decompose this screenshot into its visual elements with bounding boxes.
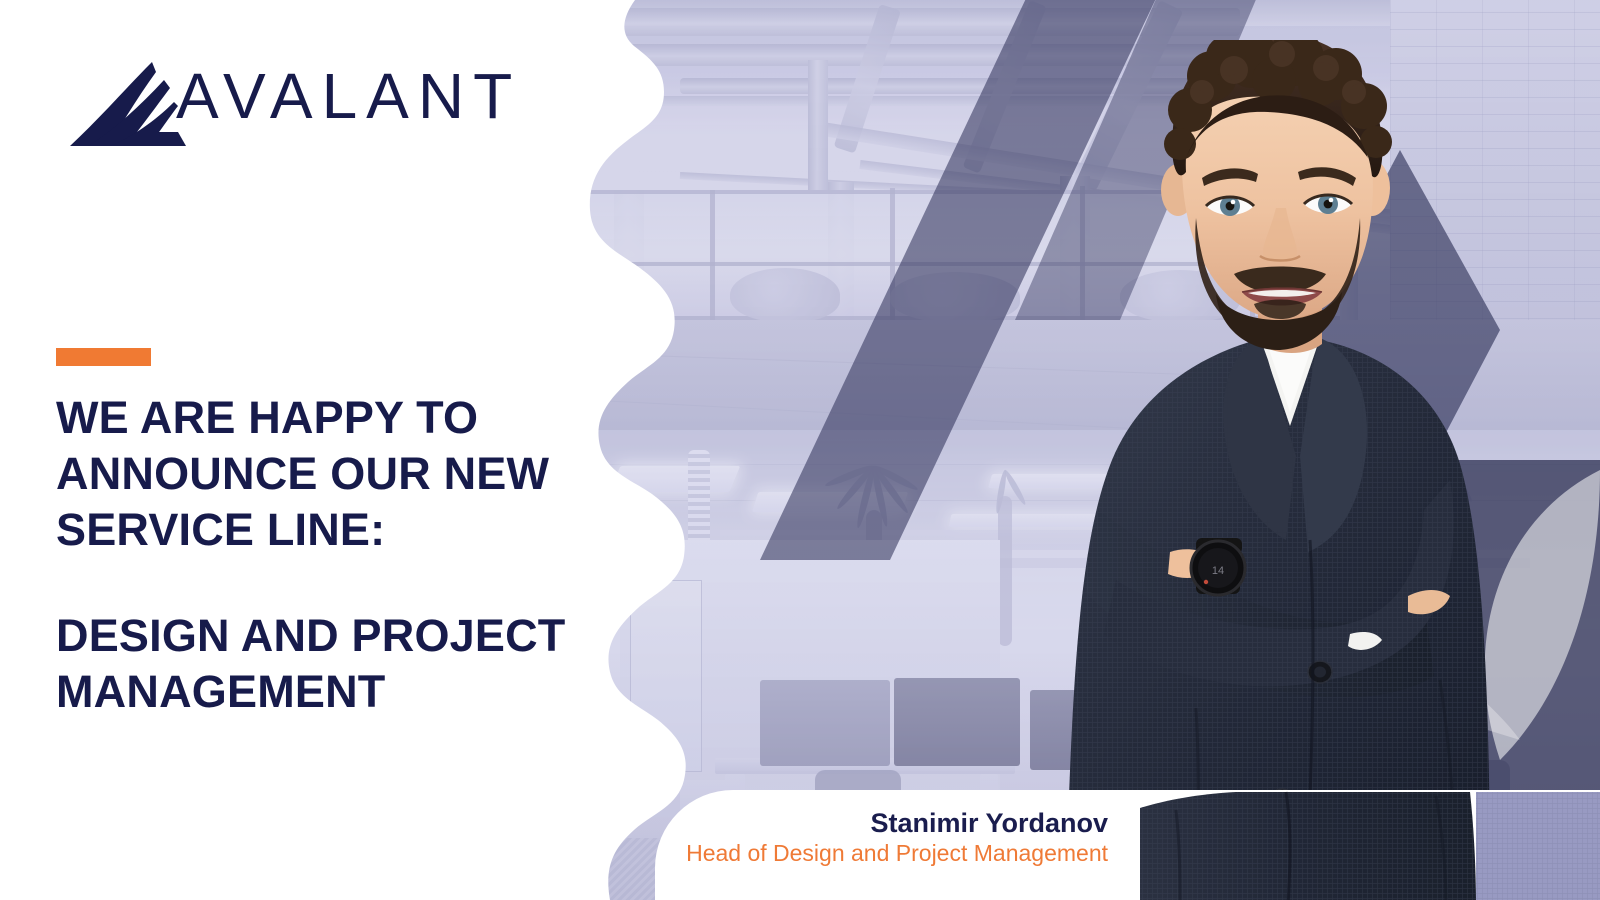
svg-text:14: 14: [1212, 565, 1224, 577]
headline-line-5: MANAGEMENT: [56, 664, 616, 720]
portrait-photo: 14: [1020, 40, 1580, 900]
figure-occlusion: [1140, 786, 1600, 900]
headline-primary: WE ARE HAPPY TO ANNOUNCE OUR NEW SERVICE…: [56, 390, 616, 557]
person-name: Stanimir Yordanov: [870, 808, 1108, 839]
headline-line-1: WE ARE HAPPY TO: [56, 390, 616, 446]
headline-line-4: DESIGN AND PROJECT: [56, 608, 616, 664]
person-role: Head of Design and Project Management: [686, 840, 1108, 867]
headline-line-3: SERVICE LINE:: [56, 502, 616, 558]
headline-line-2: ANNOUNCE OUR NEW: [56, 446, 616, 502]
headline-secondary: DESIGN AND PROJECT MANAGEMENT: [56, 608, 616, 720]
presentation-slide: 14: [0, 0, 1600, 900]
accent-rule: [56, 348, 151, 366]
brand-wordmark: AVALANT: [176, 64, 521, 128]
